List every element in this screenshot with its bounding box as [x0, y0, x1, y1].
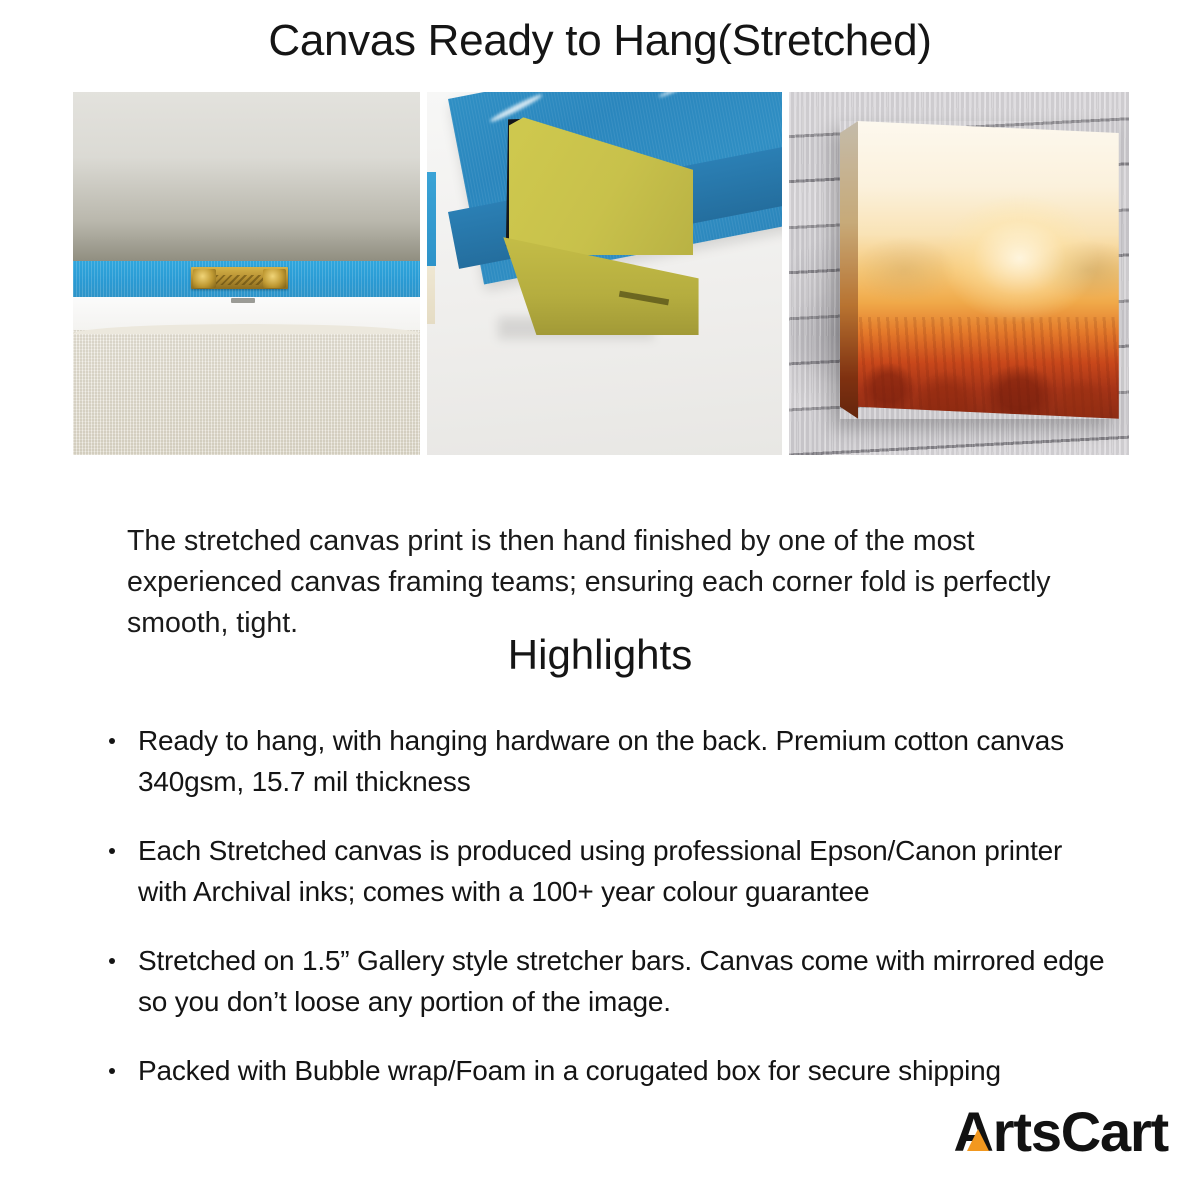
- canvas-on-wall-image: [789, 92, 1129, 455]
- list-item: Each Stretched canvas is produced using …: [104, 830, 1114, 912]
- highlights-heading: Highlights: [0, 630, 1200, 680]
- canvas-fabric-back: [73, 330, 420, 455]
- cloud-streak: [658, 92, 746, 99]
- list-item-text: Each Stretched canvas is produced using …: [138, 835, 1062, 907]
- list-item: Stretched on 1.5” Gallery style stretche…: [104, 940, 1114, 1022]
- hanging-canvas-print: [840, 121, 1119, 419]
- wall-background: [73, 92, 420, 263]
- canvas-print-side-wrap: [840, 121, 858, 419]
- product-image-gallery: [73, 92, 1128, 455]
- list-item-text: Packed with Bubble wrap/Foam in a coruga…: [138, 1055, 1001, 1086]
- bullet-dot-icon: [109, 848, 115, 854]
- hanger-teeth: [216, 275, 263, 285]
- canvas-corner-fold-image: [427, 92, 782, 455]
- list-item: Packed with Bubble wrap/Foam in a coruga…: [104, 1050, 1114, 1091]
- page-title: Canvas Ready to Hang(Stretched): [0, 14, 1200, 68]
- bullet-dot-icon: [109, 958, 115, 964]
- intro-paragraph: The stretched canvas print is then hand …: [127, 521, 1072, 644]
- orange-triangle-icon: [967, 1129, 989, 1151]
- list-item-text: Ready to hang, with hanging hardware on …: [138, 725, 1064, 797]
- list-item-text: Stretched on 1.5” Gallery style stretche…: [138, 945, 1104, 1017]
- canvas-print-front: [857, 121, 1119, 419]
- list-item: Ready to hang, with hanging hardware on …: [104, 720, 1114, 802]
- bullet-dot-icon: [109, 738, 115, 744]
- adjacent-canvas-blue: [427, 172, 436, 266]
- brand-logo: ArtsCart: [954, 1100, 1168, 1164]
- hanger-nail: [231, 298, 255, 303]
- bullet-dot-icon: [109, 1068, 115, 1074]
- canvas-back-hanger-image: [73, 92, 420, 455]
- sawtooth-hanger-icon: [191, 267, 288, 290]
- highlights-list: Ready to hang, with hanging hardware on …: [104, 720, 1114, 1091]
- adjacent-canvas-cream: [427, 266, 435, 324]
